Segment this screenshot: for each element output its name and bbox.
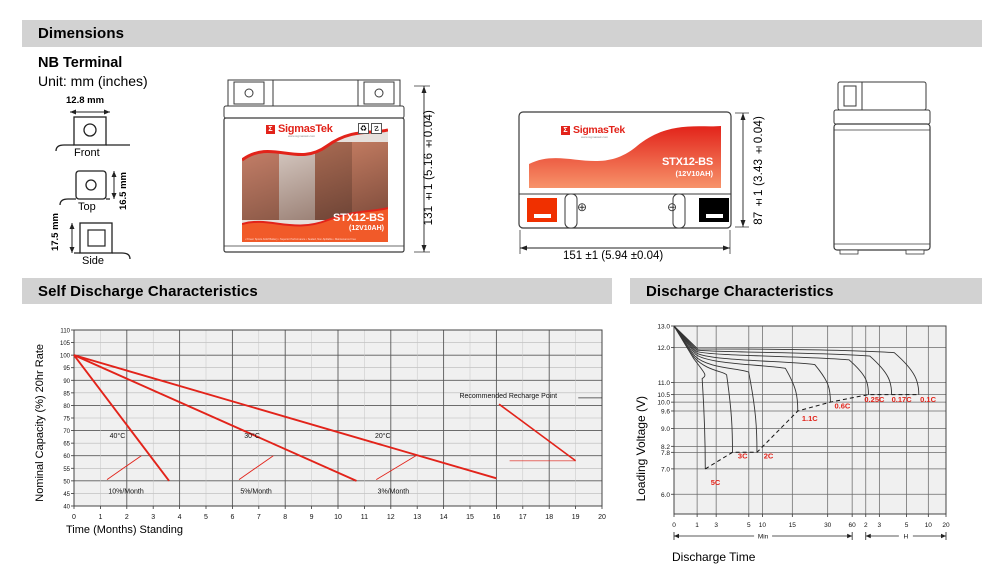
svg-text:16: 16	[493, 514, 501, 521]
svg-text:9.0: 9.0	[661, 426, 670, 433]
svg-text:5%/Month: 5%/Month	[240, 488, 272, 495]
battery-website-top: www.sigmastek.com	[581, 135, 608, 139]
positive-terminal-block	[527, 198, 557, 222]
svg-text:17: 17	[519, 514, 527, 521]
svg-text:3: 3	[714, 522, 718, 529]
svg-text:14: 14	[440, 514, 448, 521]
svg-text:5C: 5C	[711, 478, 721, 487]
svg-text:1.1C: 1.1C	[802, 414, 818, 423]
recycle-icon: ♻	[358, 123, 369, 134]
svg-text:40°C: 40°C	[110, 432, 126, 440]
battery-side-view	[818, 68, 948, 268]
battery-model: STX12-BS	[333, 212, 384, 224]
svg-text:90: 90	[63, 379, 70, 385]
svg-text:0.1C: 0.1C	[920, 395, 936, 404]
svg-text:3C: 3C	[738, 452, 748, 461]
svg-text:0.6C: 0.6C	[834, 402, 850, 411]
discharge-chart: Loading Voltage (V) 13.012.011.010.510.0…	[634, 318, 990, 568]
svg-text:75: 75	[63, 417, 70, 423]
svg-text:9.6: 9.6	[661, 408, 670, 415]
svg-text:20: 20	[942, 522, 950, 529]
svg-text:100: 100	[60, 354, 71, 360]
battery-side-drawing	[818, 68, 948, 263]
nb-view-label-side: Side	[82, 255, 104, 267]
datasheet-page: Dimensions NB Terminal Unit: mm (inches)…	[0, 0, 1000, 571]
svg-text:30°C: 30°C	[244, 432, 260, 440]
svg-text:80: 80	[63, 404, 70, 410]
svg-text:19: 19	[572, 514, 580, 521]
section-header-self-discharge: Self Discharge Characteristics	[22, 278, 612, 304]
svg-text:4: 4	[178, 514, 182, 521]
svg-text:13.0: 13.0	[657, 324, 670, 331]
svg-text:3%/Month: 3%/Month	[378, 488, 410, 495]
svg-text:2: 2	[125, 514, 129, 521]
svg-text:45: 45	[63, 492, 70, 498]
battery-top-view: Σ SigmasTek www.sigmastek.com STX12-BS (…	[515, 108, 805, 263]
nb-depth-dim-label: 17.5 mm	[50, 213, 61, 251]
svg-text:55: 55	[63, 467, 70, 473]
svg-text:6.0: 6.0	[661, 492, 670, 499]
svg-text:60: 60	[63, 454, 70, 460]
svg-text:20: 20	[598, 514, 606, 521]
svg-text:0: 0	[72, 514, 76, 521]
negative-terminal-block	[699, 198, 729, 222]
svg-text:3: 3	[878, 522, 882, 529]
self-discharge-plot: 4045505560657075808590951001051100123456…	[36, 322, 612, 547]
battery-cert-icons: ♻ ☡	[358, 123, 382, 134]
svg-text:30: 30	[824, 522, 832, 529]
svg-text:2C: 2C	[764, 452, 774, 461]
section-header-discharge: Discharge Characteristics	[630, 278, 982, 304]
no-dispose-icon: ☡	[371, 123, 382, 134]
sigma-mark-icon: Σ	[266, 125, 275, 134]
svg-text:0: 0	[672, 522, 676, 529]
svg-text:10: 10	[759, 522, 767, 529]
svg-text:15: 15	[466, 514, 474, 521]
battery-top-width-label: 151 ±1 (5.94 ±0.04)	[563, 250, 663, 262]
plus-bar-icon	[534, 214, 551, 218]
positive-symbol-icon: ⊕	[577, 200, 587, 214]
svg-text:5: 5	[747, 522, 751, 529]
svg-text:12.0: 12.0	[657, 345, 670, 352]
svg-text:13: 13	[413, 514, 421, 521]
battery-front-view: Σ SigmasTek www.sigmastek.com STX12-BS (…	[218, 68, 428, 268]
svg-text:8: 8	[283, 514, 287, 521]
svg-text:10: 10	[925, 522, 933, 529]
svg-text:0.25C: 0.25C	[864, 395, 885, 404]
svg-text:70: 70	[63, 429, 70, 435]
svg-text:2: 2	[864, 522, 868, 529]
svg-text:20°C: 20°C	[375, 432, 391, 440]
battery-features: • Power Sports AGM Battery • Superior Pe…	[245, 238, 356, 241]
battery-front-height-label: 131 ±1 (5.16 ±0.04)	[423, 110, 435, 225]
svg-text:5: 5	[905, 522, 909, 529]
self-chart-ylabel: Nominal Capacity (%) 20hr Rate	[34, 344, 46, 502]
svg-text:7.0: 7.0	[661, 466, 670, 473]
svg-text:9: 9	[310, 514, 314, 521]
svg-text:11.0: 11.0	[658, 380, 671, 387]
negative-symbol-icon: ⊖	[667, 200, 677, 214]
svg-text:7.8: 7.8	[661, 450, 670, 457]
battery-capacity: (12V10AH)	[349, 225, 384, 232]
svg-text:40: 40	[63, 505, 70, 511]
battery-capacity-top: (12V10AH)	[675, 169, 713, 178]
svg-text:95: 95	[63, 366, 70, 372]
nb-terminal-views: 12.8 mm	[38, 93, 213, 273]
nb-terminal-title: NB Terminal	[38, 55, 213, 72]
section-title-discharge: Discharge Characteristics	[646, 283, 834, 300]
section-header-dimensions: Dimensions	[22, 20, 982, 47]
svg-text:H: H	[904, 534, 909, 541]
svg-text:10: 10	[334, 514, 342, 521]
svg-text:1: 1	[695, 522, 699, 529]
discharge-plot: 13.012.011.010.510.09.69.08.27.87.06.001…	[634, 318, 990, 568]
svg-text:85: 85	[63, 391, 70, 397]
nb-view-label-top: Top	[78, 201, 96, 213]
svg-text:10.0: 10.0	[657, 400, 670, 407]
nb-terminal-unit: Unit: mm (inches)	[38, 73, 213, 89]
discharge-chart-ylabel: Loading Voltage (V)	[634, 396, 648, 501]
battery-top-label-artwork: Σ SigmasTek www.sigmastek.com STX12-BS (…	[529, 120, 721, 188]
battery-model-top: STX12-BS	[662, 156, 713, 168]
svg-text:Recommended Recharge Point: Recommended Recharge Point	[459, 393, 557, 400]
battery-website: www.sigmastek.com	[288, 134, 315, 138]
discharge-chart-xlabel: Discharge Time	[672, 550, 755, 564]
sigma-mark-icon-top: Σ	[561, 126, 570, 135]
svg-text:3: 3	[151, 514, 155, 521]
section-title-dimensions: Dimensions	[38, 25, 124, 42]
svg-text:60: 60	[849, 522, 857, 529]
svg-text:11: 11	[361, 514, 368, 521]
svg-text:110: 110	[60, 329, 70, 335]
svg-text:Min: Min	[758, 534, 769, 541]
svg-text:15: 15	[789, 522, 797, 529]
battery-top-height-label: 87 ±1 (3.43 ±0.04)	[753, 116, 765, 225]
svg-text:0.17C: 0.17C	[892, 395, 913, 404]
svg-text:6: 6	[230, 514, 234, 521]
svg-text:65: 65	[63, 442, 70, 448]
svg-text:5: 5	[204, 514, 208, 521]
svg-text:10.5: 10.5	[657, 392, 670, 399]
svg-text:7: 7	[257, 514, 261, 521]
svg-text:18: 18	[545, 514, 553, 521]
minus-bar-icon	[706, 214, 723, 218]
svg-text:50: 50	[63, 479, 70, 485]
svg-text:105: 105	[60, 341, 71, 347]
svg-text:12: 12	[387, 514, 395, 521]
nb-height-dim-label: 16.5 mm	[118, 172, 129, 210]
self-discharge-chart: Nominal Capacity (%) 20hr Rate 404550556…	[36, 322, 612, 547]
nb-view-label-front: Front	[74, 147, 100, 159]
battery-label-artwork: Σ SigmasTek www.sigmastek.com STX12-BS (…	[242, 120, 388, 242]
svg-text:10%/Month: 10%/Month	[108, 488, 144, 495]
svg-text:1: 1	[98, 514, 102, 521]
nb-terminal-block: NB Terminal Unit: mm (inches) 12.8 mm	[38, 55, 213, 273]
self-chart-xlabel: Time (Months) Standing	[66, 524, 183, 536]
section-title-self-discharge: Self Discharge Characteristics	[38, 283, 258, 300]
